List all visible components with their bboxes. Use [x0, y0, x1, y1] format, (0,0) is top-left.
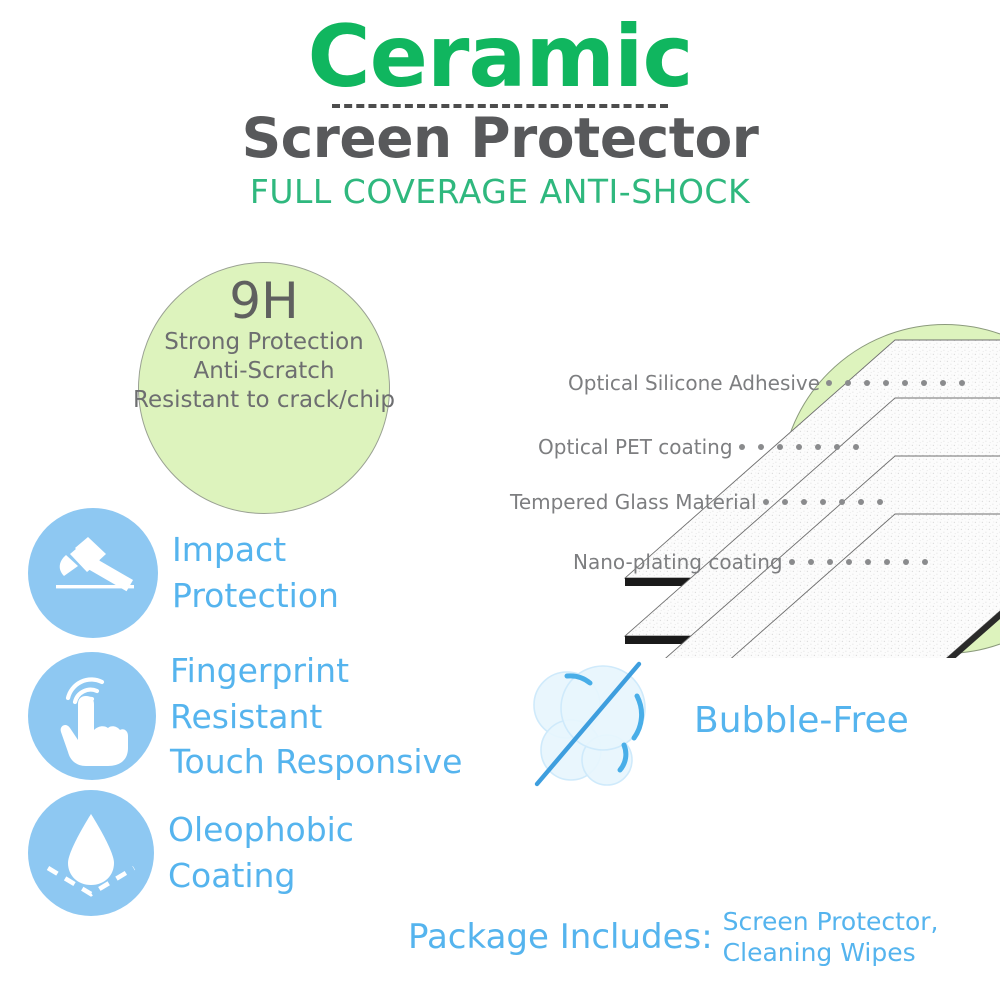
feature-fingerprint-resistant: Fingerprint Resistant Touch Responsive [28, 648, 462, 785]
package-item: Cleaning Wipes [723, 937, 939, 968]
feature-bubble-free: Bubble-Free [526, 650, 909, 790]
package-title: Package Includes: [408, 917, 713, 957]
feature-impact-protection: Impact Protection [28, 508, 339, 638]
layer-label-0: Optical Silicone Adhesive [568, 373, 820, 393]
page-title: Ceramic [0, 14, 1000, 102]
feature-fingerprint-line-1: Fingerprint [170, 648, 462, 694]
leader-dots-1 [739, 444, 872, 450]
layer-callout-2: Tempered Glass Material [510, 489, 896, 515]
glass-layers-illustration [470, 318, 1000, 658]
hardness-line-2: Anti-Scratch [193, 357, 334, 386]
layer-label-3: Nano-plating coating [573, 552, 783, 572]
layer-callout-0: Optical Silicone Adhesive [568, 370, 978, 396]
feature-impact-line-2: Protection [172, 573, 339, 619]
leader-dots-2 [763, 499, 896, 505]
layer-structure-diagram: Optical Silicone Adhesive Optical PET co… [470, 318, 1000, 658]
hardness-line-3: Resistant to crack/chip [133, 386, 395, 415]
bubble-free-label: Bubble-Free [694, 700, 909, 741]
feature-oleophobic-line-2: Coating [168, 853, 354, 899]
feature-fingerprint-line-3: Touch Responsive [170, 739, 462, 785]
header: Ceramic Screen Protector FULL COVERAGE A… [0, 14, 1000, 211]
feature-oleophobic-coating: Oleophobic Coating [28, 790, 354, 916]
layer-label-1: Optical PET coating [538, 437, 733, 457]
feature-fingerprint-line-2: Resistant [170, 694, 462, 740]
no-bubbles-icon [526, 650, 686, 790]
package-item-list: Screen Protector, Cleaning Wipes [723, 906, 939, 969]
layer-label-2: Tempered Glass Material [510, 492, 757, 512]
product-infographic: Ceramic Screen Protector FULL COVERAGE A… [0, 0, 1000, 1000]
package-item: Screen Protector, [723, 906, 939, 937]
hardness-value: 9H [229, 275, 298, 328]
touch-hand-icon [28, 652, 156, 780]
hardness-line-1: Strong Protection [164, 328, 364, 357]
feature-impact-line-1: Impact [172, 527, 339, 573]
hardness-badge: 9H Strong Protection Anti-Scratch Resist… [138, 262, 390, 514]
page-subtitle: Screen Protector [0, 109, 1000, 168]
feature-impact-label: Impact Protection [172, 527, 339, 618]
layer-callout-1: Optical PET coating [538, 434, 872, 460]
water-droplet-icon [28, 790, 154, 916]
hammer-icon [28, 508, 158, 638]
leader-dots-0 [826, 380, 978, 386]
feature-oleophobic-line-1: Oleophobic [168, 807, 354, 853]
layer-callout-3: Nano-plating coating [573, 549, 941, 575]
feature-oleophobic-label: Oleophobic Coating [168, 807, 354, 898]
leader-dots-3 [789, 559, 941, 565]
page-tagline: FULL COVERAGE ANTI-SHOCK [0, 172, 1000, 211]
package-includes: Package Includes: Screen Protector, Clea… [408, 906, 938, 969]
feature-fingerprint-label: Fingerprint Resistant Touch Responsive [170, 648, 462, 785]
